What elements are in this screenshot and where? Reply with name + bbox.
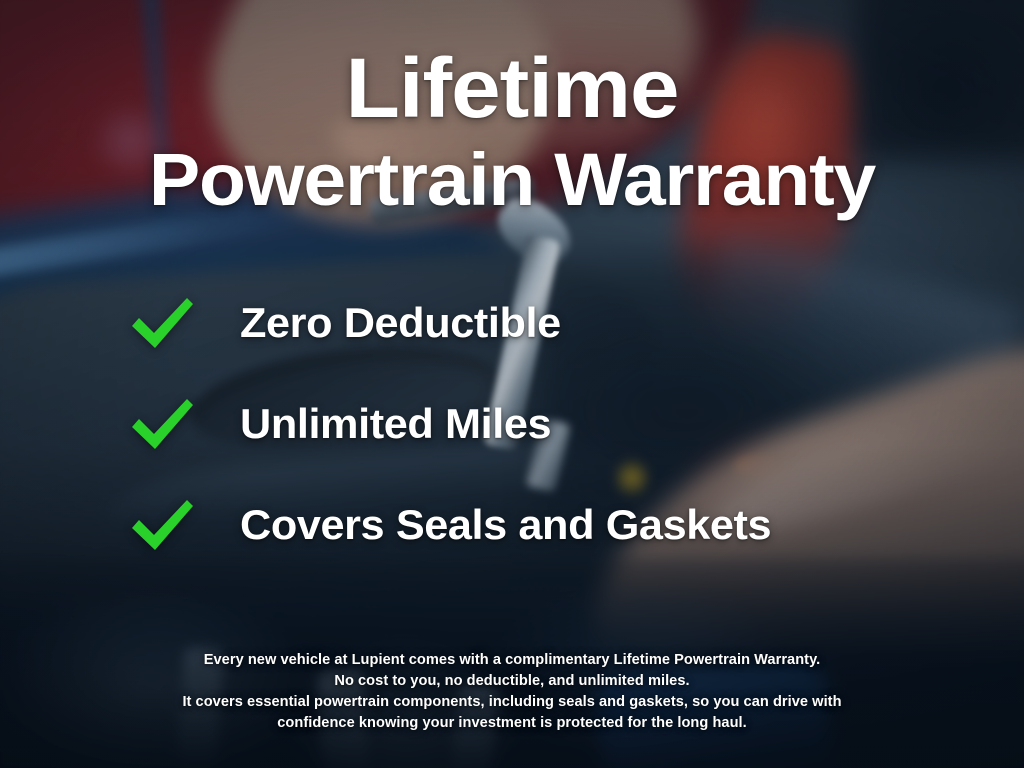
footnote-line-3: It covers essential powertrain component… [0, 692, 1024, 713]
footnote-line-2: No cost to you, no deductible, and unlim… [0, 671, 1024, 692]
benefit-label: Covers Seals and Gaskets [240, 501, 771, 549]
warranty-promo-banner: Lifetime Powertrain Warranty Zero Deduct… [0, 0, 1024, 768]
page-title-line-1: Lifetime [0, 46, 1024, 132]
check-icon [128, 295, 196, 351]
list-item: Unlimited Miles [128, 393, 988, 455]
footnote-paragraph: Every new vehicle at Lupient comes with … [0, 650, 1024, 734]
promo-content: Lifetime Powertrain Warranty Zero Deduct… [0, 0, 1024, 768]
footnote-line-4: confidence knowing your investment is pr… [0, 713, 1024, 734]
check-icon [128, 396, 196, 452]
benefits-list: Zero Deductible Unlimited Miles Covers S… [128, 292, 988, 556]
list-item: Covers Seals and Gaskets [128, 494, 988, 556]
page-title: Lifetime Powertrain Warranty [0, 46, 1024, 217]
footnote-line-1: Every new vehicle at Lupient comes with … [0, 650, 1024, 671]
check-icon [128, 497, 196, 553]
benefit-label: Unlimited Miles [240, 400, 551, 448]
list-item: Zero Deductible [128, 292, 988, 354]
page-title-line-2: Powertrain Warranty [0, 142, 1024, 217]
benefit-label: Zero Deductible [240, 299, 561, 347]
